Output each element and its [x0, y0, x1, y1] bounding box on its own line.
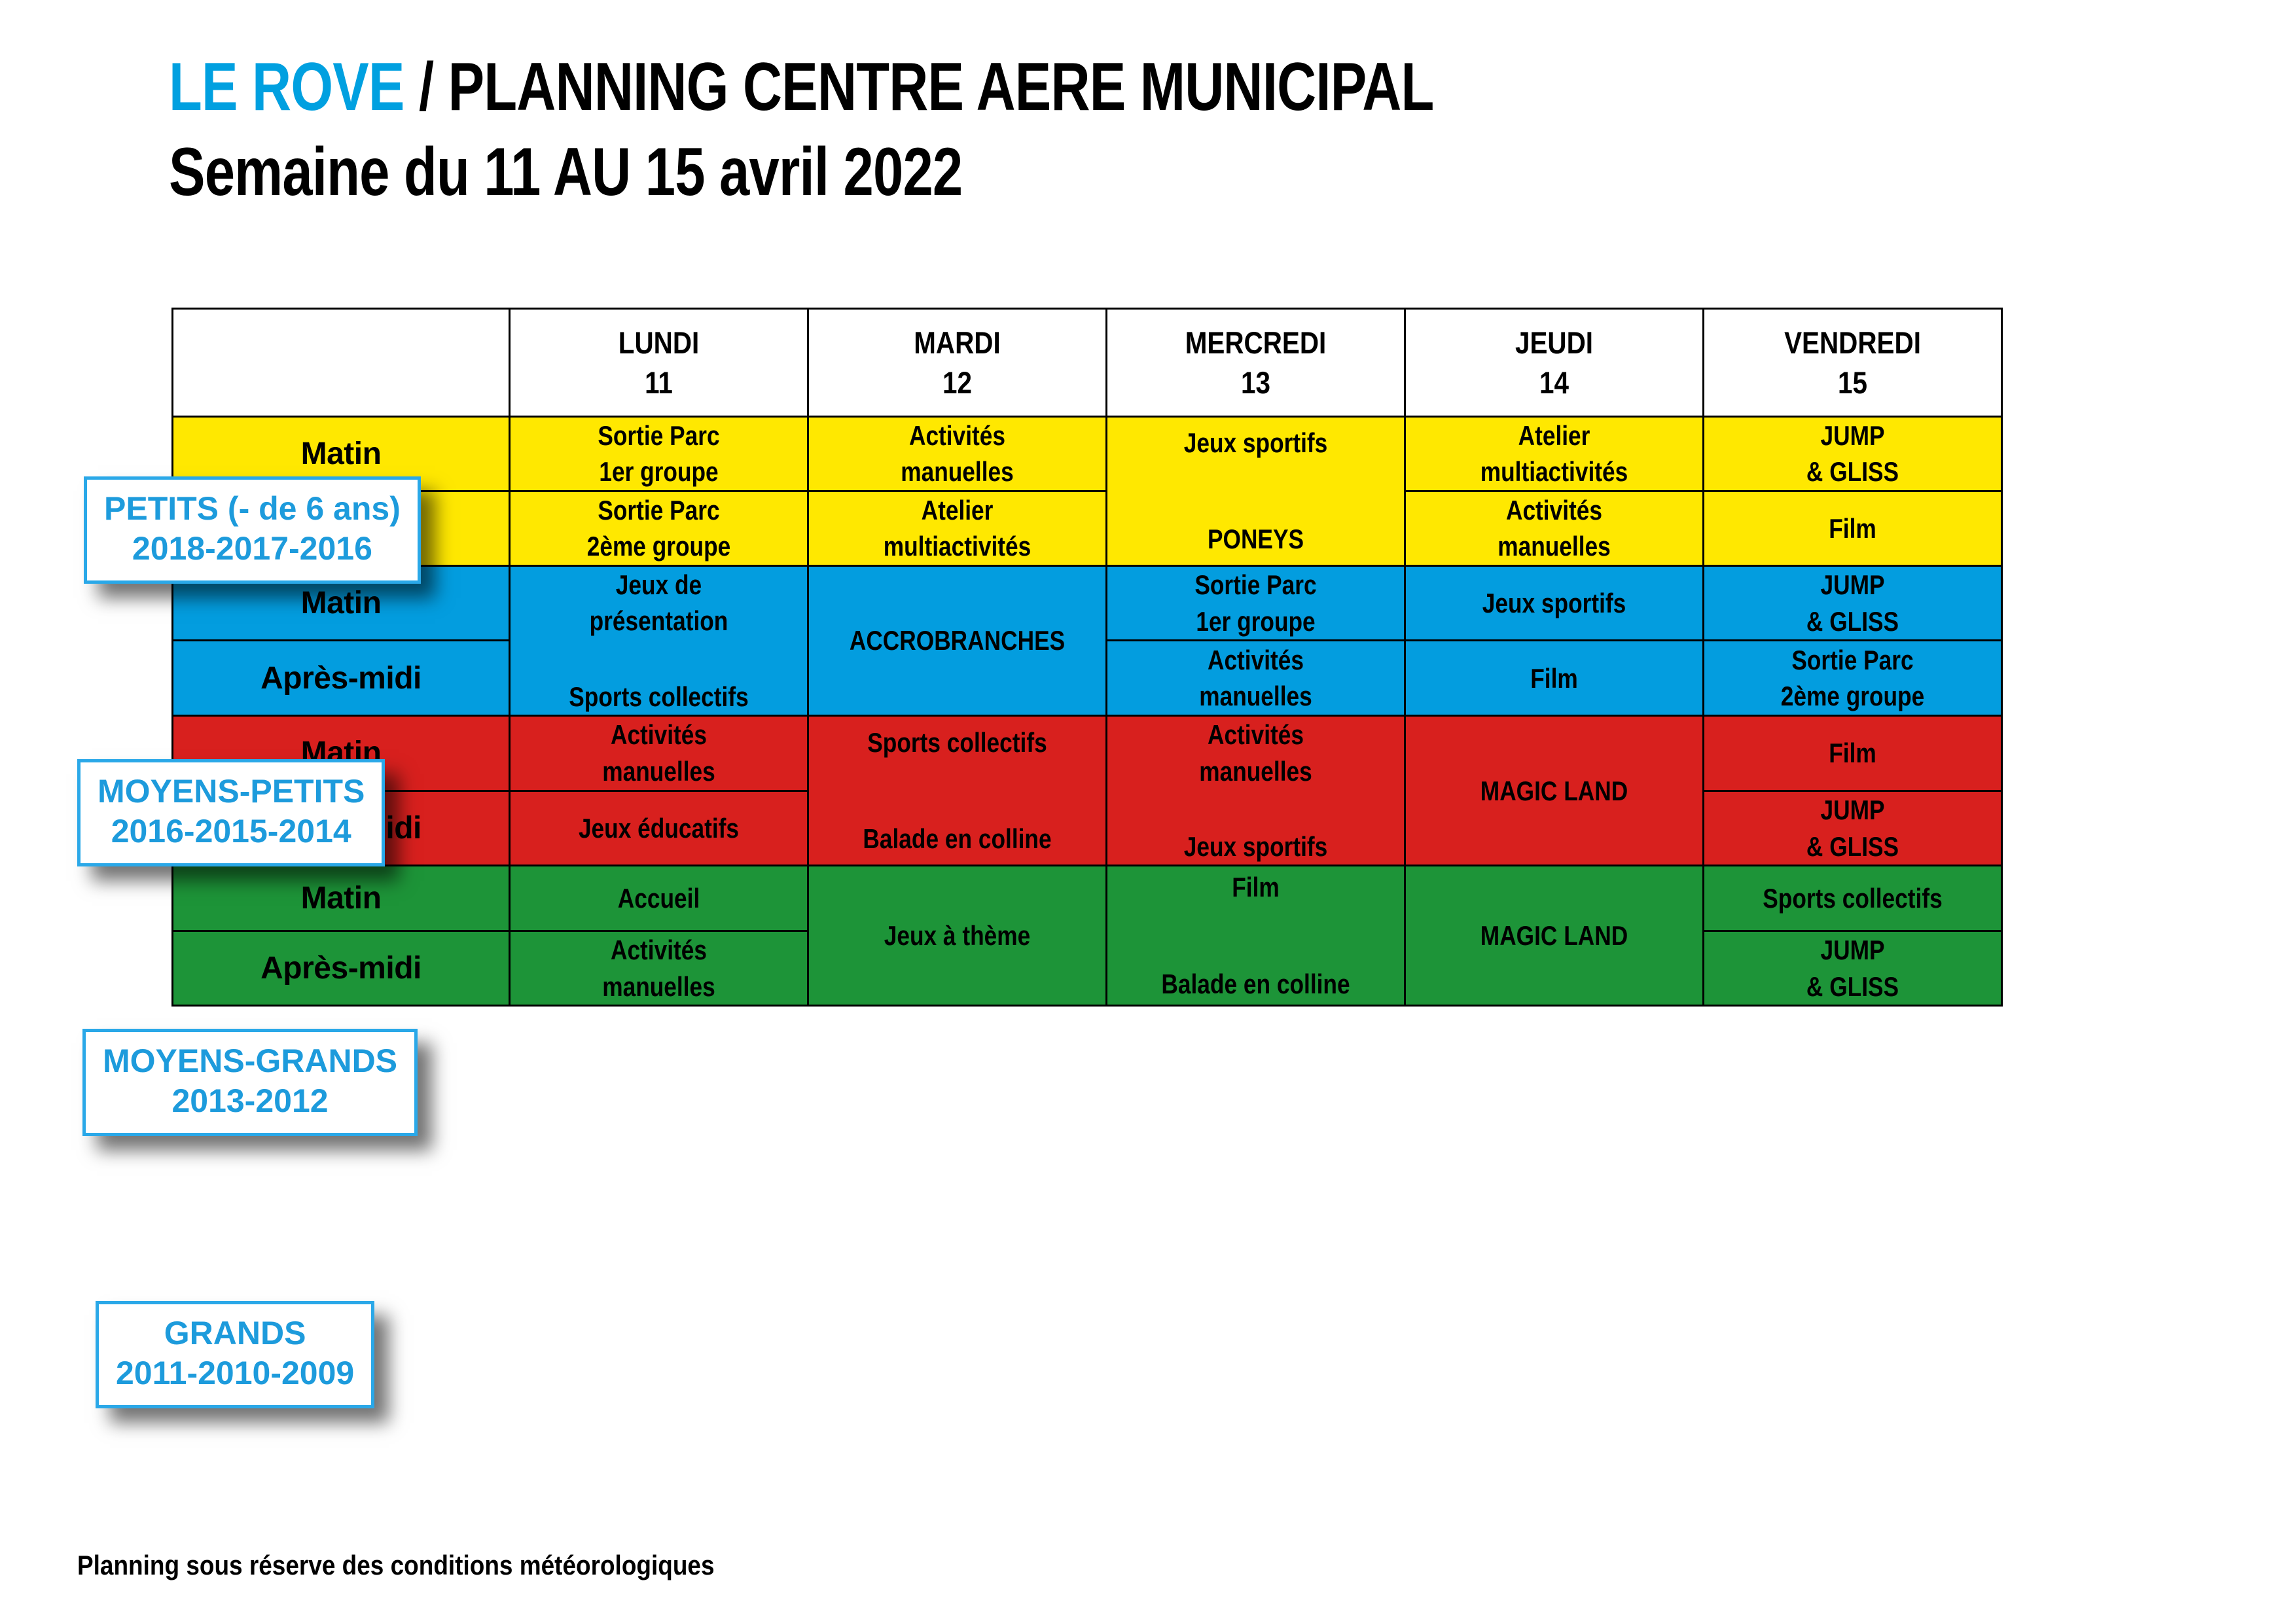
row-grands-matin: Matin Accueil Jeux à thème Film Balade e… — [173, 866, 2002, 931]
activity-line: Film — [1728, 510, 1977, 546]
cell-moyensgrands-mercredi-merged: Activités manuelles Jeux sportifs — [1107, 716, 1405, 866]
activity-line: manuelles — [1131, 753, 1380, 789]
cell-grands-jeudi-merged: MAGIC LAND — [1405, 866, 1704, 1006]
header-day-mercredi: MERCREDI 13 — [1107, 309, 1405, 417]
day-date: 12 — [830, 363, 1085, 402]
activity-line: présentation — [534, 603, 783, 639]
spacer — [1107, 461, 1404, 521]
cell-moyenspetits-lundi-merged: Jeux de présentation Sports collectifs — [510, 565, 808, 715]
activity-line: Sortie Parc — [1728, 642, 1977, 678]
category-years: 2016-2015-2014 — [98, 811, 365, 851]
activity-line: Film — [1131, 869, 1380, 905]
cell-grands-mardi-merged: Jeux à thème — [808, 866, 1107, 1006]
activity-line: ACCROBRANCHES — [833, 622, 1082, 658]
spacer — [809, 760, 1105, 821]
page-subtitle: Semaine du 11 AU 15 avril 2022 — [169, 134, 1635, 210]
cell-moyenspetits-vendredi-matin: JUMP & GLISS — [1704, 565, 2002, 641]
city-name: LE ROVE — [169, 49, 404, 125]
activity-line: Film — [1728, 735, 1977, 771]
activity-line: JUMP — [1728, 932, 1977, 968]
table-header-row: LUNDI 11 MARDI 12 MERCREDI 13 JEUDI 14 V… — [173, 309, 2002, 417]
cell-grands-vendredi-apresmidi: JUMP & GLISS — [1704, 931, 2002, 1006]
activity-line: MAGIC LAND — [1429, 918, 1679, 954]
cell-moyensgrands-lundi-matin: Activités manuelles — [510, 716, 808, 791]
activity-line: Jeux de — [534, 567, 783, 603]
activity-line: manuelles — [1131, 678, 1380, 714]
category-years: 2013-2012 — [103, 1081, 397, 1121]
header-day-jeudi: JEUDI 14 — [1405, 309, 1704, 417]
cell-moyensgrands-vendredi-apresmidi: JUMP & GLISS — [1704, 791, 2002, 866]
cell-petits-jeudi-apresmidi: Activités manuelles — [1405, 491, 1704, 565]
header-day-vendredi: VENDREDI 15 — [1704, 309, 2002, 417]
spacer — [511, 639, 807, 679]
title-block: LE ROVE / PLANNING CENTRE AERE MUNICIPAL… — [169, 49, 2001, 211]
header-day-lundi: LUNDI 11 — [510, 309, 808, 417]
activity-line: multiactivités — [1429, 454, 1679, 490]
activity-line: Jeux éducatifs — [534, 810, 783, 846]
label-apresmidi-moyenspetits: Après-midi — [173, 641, 510, 716]
activity-line: Jeux à thème — [833, 918, 1082, 954]
day-date: 11 — [531, 363, 787, 402]
schedule-table: LUNDI 11 MARDI 12 MERCREDI 13 JEUDI 14 V… — [171, 308, 2003, 1007]
cell-petits-mardi-apresmidi: Atelier multiactivités — [808, 491, 1107, 565]
label-apresmidi-grands: Après-midi — [173, 931, 510, 1006]
cell-moyenspetits-jeudi-apresmidi: Film — [1405, 641, 1704, 716]
title-main: PLANNING CENTRE AERE MUNICIPAL — [448, 49, 1434, 125]
day-name: VENDREDI — [1725, 323, 1981, 363]
activity-line: Activités — [534, 932, 783, 968]
cell-moyenspetits-mardi-merged: ACCROBRANCHES — [808, 565, 1107, 715]
row-petits-matin: Matin Sortie Parc 1er groupe Activités m… — [173, 417, 2002, 491]
activity-line: Sortie Parc — [534, 418, 783, 454]
activity-line: & GLISS — [1728, 969, 1977, 1005]
title-separator: / — [404, 49, 448, 125]
category-badge-grands: GRANDS 2011-2010-2009 — [96, 1301, 374, 1408]
category-badge-petits: PETITS (- de 6 ans) 2018-2017-2016 — [84, 476, 421, 584]
activity-line: 1er groupe — [534, 454, 783, 490]
activity-line: 2ème groupe — [1728, 678, 1977, 714]
day-name: MARDI — [830, 323, 1085, 363]
category-name: MOYENS-GRANDS — [103, 1041, 397, 1081]
activity-line: Activités — [1131, 717, 1380, 753]
activity-line: Atelier — [1429, 418, 1679, 454]
cell-moyenspetits-mercredi-apresmidi: Activités manuelles — [1107, 641, 1405, 716]
activity-line: manuelles — [534, 753, 783, 789]
page-title: LE ROVE / PLANNING CENTRE AERE MUNICIPAL — [169, 49, 1635, 125]
day-date: 14 — [1427, 363, 1682, 402]
cell-moyensgrands-vendredi-matin: Film — [1704, 716, 2002, 791]
cell-moyenspetits-mercredi-matin: Sortie Parc 1er groupe — [1107, 565, 1405, 641]
cell-moyenspetits-jeudi-matin: Jeux sportifs — [1405, 565, 1704, 641]
activity-line: JUMP — [1728, 792, 1977, 828]
activity-line: Jeux sportifs — [1429, 585, 1679, 621]
activity-line: & GLISS — [1728, 454, 1977, 490]
activity-line: Sports collectifs — [833, 724, 1082, 760]
activity-line: & GLISS — [1728, 829, 1977, 865]
activity-line: manuelles — [534, 969, 783, 1005]
category-name: GRANDS — [116, 1313, 354, 1353]
activity-line: Activités — [1429, 492, 1679, 528]
cell-petits-mercredi-merged: Jeux sportifs PONEYS — [1107, 417, 1405, 566]
activity-line: Sports collectifs — [1728, 880, 1977, 916]
cell-petits-lundi-matin: Sortie Parc 1er groupe — [510, 417, 808, 491]
planning-poster: LE ROVE / PLANNING CENTRE AERE MUNICIPAL… — [0, 0, 2296, 1623]
cell-moyenspetits-vendredi-apresmidi: Sortie Parc 2ème groupe — [1704, 641, 2002, 716]
day-date: 15 — [1725, 363, 1981, 402]
activity-line: multiactivités — [833, 528, 1082, 564]
category-name: PETITS (- de 6 ans) — [104, 489, 401, 529]
activity-line: Jeux sportifs — [1131, 829, 1380, 865]
cell-petits-vendredi-apresmidi: Film — [1704, 491, 2002, 565]
activity-line: & GLISS — [1728, 603, 1977, 639]
activity-line: Sortie Parc — [1131, 567, 1380, 603]
activity-line: Activités — [1131, 642, 1380, 678]
activity-line: Atelier — [833, 492, 1082, 528]
activity-line: Jeux sportifs — [1131, 425, 1380, 461]
cell-petits-vendredi-matin: JUMP & GLISS — [1704, 417, 2002, 491]
cell-grands-lundi-matin: Accueil — [510, 866, 808, 931]
activity-line: Balade en colline — [833, 821, 1082, 857]
activity-line: Film — [1429, 660, 1679, 696]
category-name: MOYENS-PETITS — [98, 772, 365, 811]
activity-line: Balade en colline — [1131, 966, 1380, 1002]
day-date: 13 — [1128, 363, 1384, 402]
activity-line: Sports collectifs — [534, 679, 783, 715]
cell-grands-lundi-apresmidi: Activités manuelles — [510, 931, 808, 1006]
footer-note: Planning sous réserve des conditions mét… — [77, 1550, 715, 1581]
category-years: 2011-2010-2009 — [116, 1353, 354, 1393]
cell-moyensgrands-lundi-apresmidi: Jeux éducatifs — [510, 791, 808, 866]
activity-line: 1er groupe — [1131, 603, 1380, 639]
day-name: LUNDI — [531, 323, 787, 363]
row-moyenspetits-matin: Matin Jeux de présentation Sports collec… — [173, 565, 2002, 641]
header-day-mardi: MARDI 12 — [808, 309, 1107, 417]
activity-line: JUMP — [1728, 567, 1977, 603]
activity-line: JUMP — [1728, 418, 1977, 454]
cell-petits-lundi-apresmidi: Sortie Parc 2ème groupe — [510, 491, 808, 565]
header-corner-cell — [173, 309, 510, 417]
label-matin-grands: Matin — [173, 866, 510, 931]
activity-line: 2ème groupe — [534, 528, 783, 564]
cell-moyensgrands-mardi-merged: Sports collectifs Balade en colline — [808, 716, 1107, 866]
activity-line: Sortie Parc — [534, 492, 783, 528]
cell-petits-jeudi-matin: Atelier multiactivités — [1405, 417, 1704, 491]
day-name: JEUDI — [1427, 323, 1682, 363]
spacer — [1107, 906, 1404, 966]
activity-line: Activités — [833, 418, 1082, 454]
cell-grands-vendredi-matin: Sports collectifs — [1704, 866, 2002, 931]
row-petits-apresmidi: Après-midi Sortie Parc 2ème groupe Ateli… — [173, 491, 2002, 565]
row-moyensgrands-matin: Matin Activités manuelles Sports collect… — [173, 716, 2002, 791]
cell-moyensgrands-jeudi-merged: MAGIC LAND — [1405, 716, 1704, 866]
category-badge-moyens-petits: MOYENS-PETITS 2016-2015-2014 — [77, 759, 385, 866]
day-name: MERCREDI — [1128, 323, 1384, 363]
activity-line: PONEYS — [1131, 521, 1380, 557]
category-years: 2018-2017-2016 — [104, 529, 401, 569]
activity-line: MAGIC LAND — [1429, 773, 1679, 809]
cell-grands-mercredi-merged: Film Balade en colline — [1107, 866, 1405, 1006]
activity-line: manuelles — [1429, 528, 1679, 564]
activity-line: manuelles — [833, 454, 1082, 490]
activity-line: Accueil — [534, 880, 783, 916]
spacer — [1107, 789, 1404, 829]
category-badge-moyens-grands: MOYENS-GRANDS 2013-2012 — [82, 1029, 418, 1136]
cell-petits-mardi-matin: Activités manuelles — [808, 417, 1107, 491]
activity-line: Activités — [534, 717, 783, 753]
